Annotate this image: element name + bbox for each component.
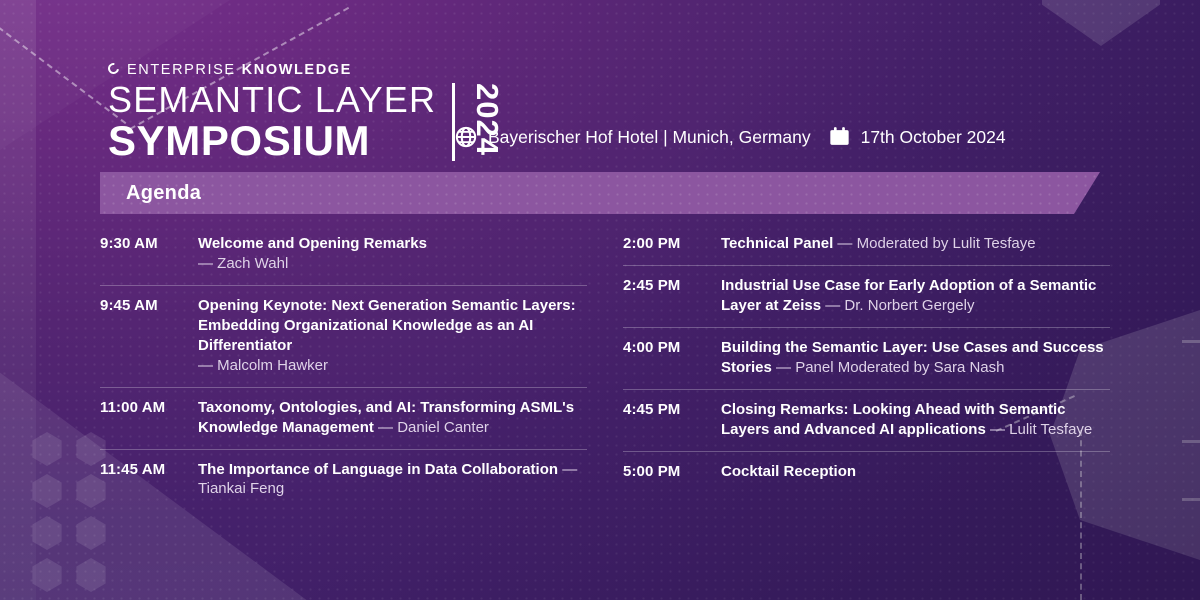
session-detail: Technical Panel — Moderated by Lulit Tes… bbox=[721, 234, 1110, 254]
date-text: 17th October 2024 bbox=[861, 127, 1006, 148]
event-meta-row: Bayerischer Hof Hotel | Munich, Germany … bbox=[455, 126, 1006, 148]
date-item: 17th October 2024 bbox=[829, 126, 1006, 148]
logo-divider-rule bbox=[452, 83, 455, 161]
calendar-icon bbox=[829, 126, 850, 148]
agenda-session-row: 9:30 AMWelcome and Opening Remarks— Zach… bbox=[100, 224, 587, 286]
session-detail: Cocktail Reception bbox=[721, 462, 1110, 482]
session-detail: Industrial Use Case for Early Adoption o… bbox=[721, 276, 1110, 316]
globe-icon bbox=[455, 126, 477, 148]
event-logo-header: ENTERPRISE KNOWLEDGE SEMANTIC LAYER SYMP… bbox=[108, 62, 505, 163]
session-detail: Closing Remarks: Looking Ahead with Sema… bbox=[721, 400, 1110, 440]
brand-eyebrow: ENTERPRISE KNOWLEDGE bbox=[108, 62, 436, 78]
agenda-columns: 9:30 AMWelcome and Opening Remarks— Zach… bbox=[100, 224, 1110, 510]
session-time: 4:45 PM bbox=[623, 400, 707, 418]
session-speaker: — Zach Wahl bbox=[198, 254, 587, 274]
session-title: Opening Keynote: Next Generation Semanti… bbox=[198, 297, 576, 354]
session-time: 5:00 PM bbox=[623, 462, 707, 480]
venue-item: Bayerischer Hof Hotel | Munich, Germany bbox=[455, 126, 811, 148]
event-title-line-2: SYMPOSIUM bbox=[108, 119, 436, 163]
session-detail: Opening Keynote: Next Generation Semanti… bbox=[198, 296, 587, 376]
session-speaker: — Malcolm Hawker bbox=[198, 356, 587, 376]
session-time: 11:45 AM bbox=[100, 460, 184, 478]
session-title: Cocktail Reception bbox=[721, 463, 856, 480]
agenda-column-right: 2:00 PMTechnical Panel — Moderated by Lu… bbox=[623, 224, 1110, 510]
session-speaker: — Moderated by Lulit Tesfaye bbox=[833, 235, 1035, 252]
agenda-session-row: 4:00 PMBuilding the Semantic Layer: Use … bbox=[623, 328, 1110, 390]
agenda-session-row: 2:45 PMIndustrial Use Case for Early Ado… bbox=[623, 266, 1110, 328]
session-time: 4:00 PM bbox=[623, 338, 707, 356]
agenda-banner: Agenda bbox=[100, 172, 1100, 214]
poster-canvas: ENTERPRISE KNOWLEDGE SEMANTIC LAYER SYMP… bbox=[0, 0, 1200, 600]
agenda-session-row: 4:45 PMClosing Remarks: Looking Ahead wi… bbox=[623, 390, 1110, 452]
agenda-session-row: 5:00 PMCocktail Reception bbox=[623, 452, 1110, 493]
event-year: 2024 bbox=[469, 83, 505, 161]
agenda-session-row: 11:45 AMThe Importance of Language in Da… bbox=[100, 450, 587, 511]
session-time: 9:45 AM bbox=[100, 296, 184, 314]
session-detail: The Importance of Language in Data Colla… bbox=[198, 460, 587, 500]
session-title: Technical Panel bbox=[721, 235, 833, 252]
session-detail: Welcome and Opening Remarks— Zach Wahl bbox=[198, 234, 587, 274]
session-time: 2:00 PM bbox=[623, 234, 707, 252]
session-detail: Taxonomy, Ontologies, and AI: Transformi… bbox=[198, 398, 587, 438]
session-speaker: — Dr. Norbert Gergely bbox=[821, 297, 974, 314]
session-title: Welcome and Opening Remarks bbox=[198, 235, 427, 252]
session-speaker: — Daniel Canter bbox=[374, 419, 489, 436]
session-speaker: — Panel Moderated by Sara Nash bbox=[772, 359, 1005, 376]
venue-text: Bayerischer Hof Hotel | Munich, Germany bbox=[488, 127, 811, 148]
event-title-line-1: SEMANTIC LAYER bbox=[108, 81, 436, 119]
brand-eyebrow-bold: KNOWLEDGE bbox=[242, 62, 352, 78]
brand-eyebrow-light: ENTERPRISE bbox=[127, 62, 236, 78]
session-time: 11:00 AM bbox=[100, 398, 184, 416]
session-detail: Building the Semantic Layer: Use Cases a… bbox=[721, 338, 1110, 378]
ek-circle-mark-icon bbox=[106, 60, 121, 75]
session-time: 9:30 AM bbox=[100, 234, 184, 252]
logo-wordmark: ENTERPRISE KNOWLEDGE SEMANTIC LAYER SYMP… bbox=[108, 62, 436, 163]
session-speaker: — Lulit Tesfaye bbox=[986, 421, 1092, 438]
session-title: The Importance of Language in Data Colla… bbox=[198, 461, 558, 478]
agenda-session-row: 2:00 PMTechnical Panel — Moderated by Lu… bbox=[623, 224, 1110, 266]
agenda-banner-label: Agenda bbox=[126, 182, 201, 205]
agenda-session-row: 9:45 AMOpening Keynote: Next Generation … bbox=[100, 286, 587, 388]
agenda-column-left: 9:30 AMWelcome and Opening Remarks— Zach… bbox=[100, 224, 587, 510]
agenda-session-row: 11:00 AMTaxonomy, Ontologies, and AI: Tr… bbox=[100, 388, 587, 450]
logo-year-group: 2024 bbox=[452, 83, 505, 163]
session-time: 2:45 PM bbox=[623, 276, 707, 294]
